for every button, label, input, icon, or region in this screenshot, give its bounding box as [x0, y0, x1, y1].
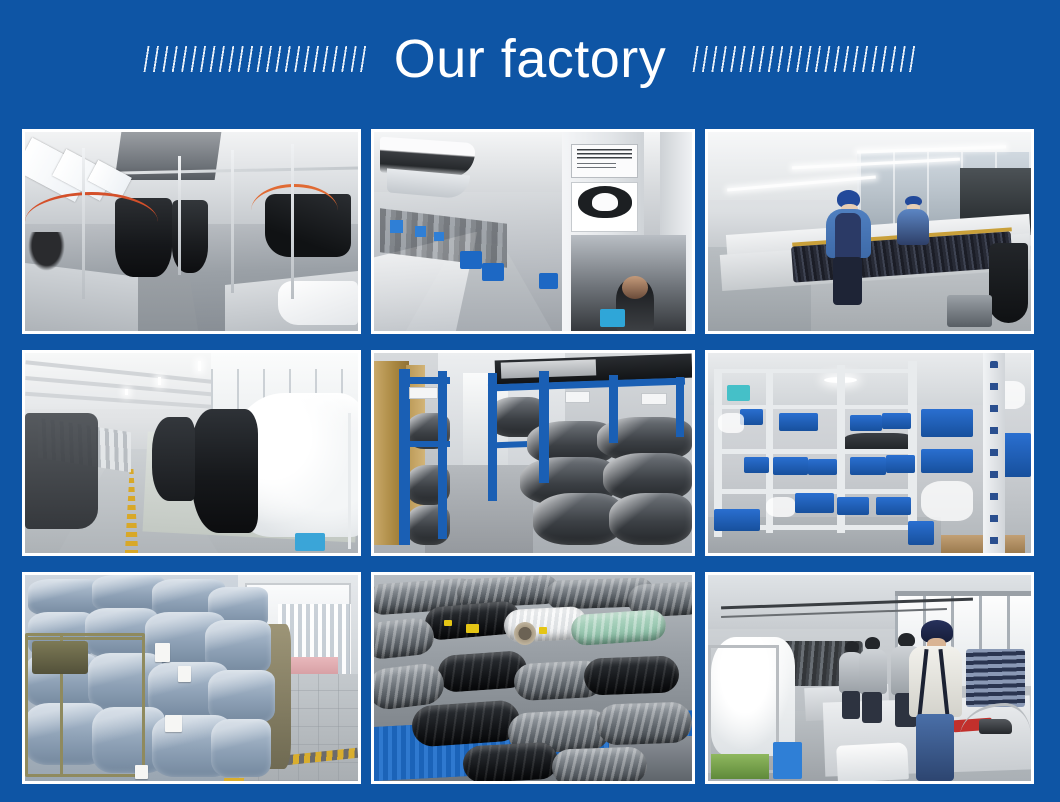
gallery-tile-sewing-floor-signage[interactable] — [371, 129, 695, 334]
photo-cutting-spreading-table — [708, 132, 1031, 331]
page-header: Our factory — [0, 0, 1060, 118]
slash-decoration-left-icon — [143, 46, 368, 72]
safety-sign-icon — [578, 186, 632, 218]
photo-ironing-pressing-line — [708, 575, 1031, 781]
worker-background-2 — [857, 637, 889, 724]
worker-primary — [824, 190, 872, 305]
worker-secondary — [895, 196, 931, 256]
gallery-tile-ironing-pressing-line[interactable] — [705, 572, 1034, 784]
photo-fabric-roll-stack — [374, 575, 692, 781]
slash-decoration-right-icon — [692, 46, 917, 72]
factory-photo-gallery — [22, 129, 1034, 784]
photo-sewing-aisle-garment-piles — [25, 353, 358, 553]
gallery-tile-fabric-roll-stack[interactable] — [371, 572, 695, 784]
gallery-tile-sewing-production-line[interactable] — [22, 129, 361, 334]
gallery-tile-cutting-spreading-table[interactable] — [705, 129, 1034, 334]
photo-sewing-floor-signage — [374, 132, 692, 331]
worker-foreground — [908, 620, 963, 781]
gallery-tile-storage-room-blue-bins[interactable] — [705, 350, 1034, 556]
page-title: Our factory — [394, 29, 667, 89]
gallery-tile-denim-bundles-carts[interactable] — [22, 572, 361, 784]
gallery-tile-sewing-aisle-garment-piles[interactable] — [22, 350, 361, 556]
photo-sewing-production-line — [25, 132, 358, 331]
photo-storage-room-blue-bins — [708, 353, 1031, 553]
photo-warehouse-blue-racking — [374, 353, 692, 553]
photo-denim-bundles-carts — [25, 575, 358, 781]
gallery-tile-warehouse-blue-racking[interactable] — [371, 350, 695, 556]
